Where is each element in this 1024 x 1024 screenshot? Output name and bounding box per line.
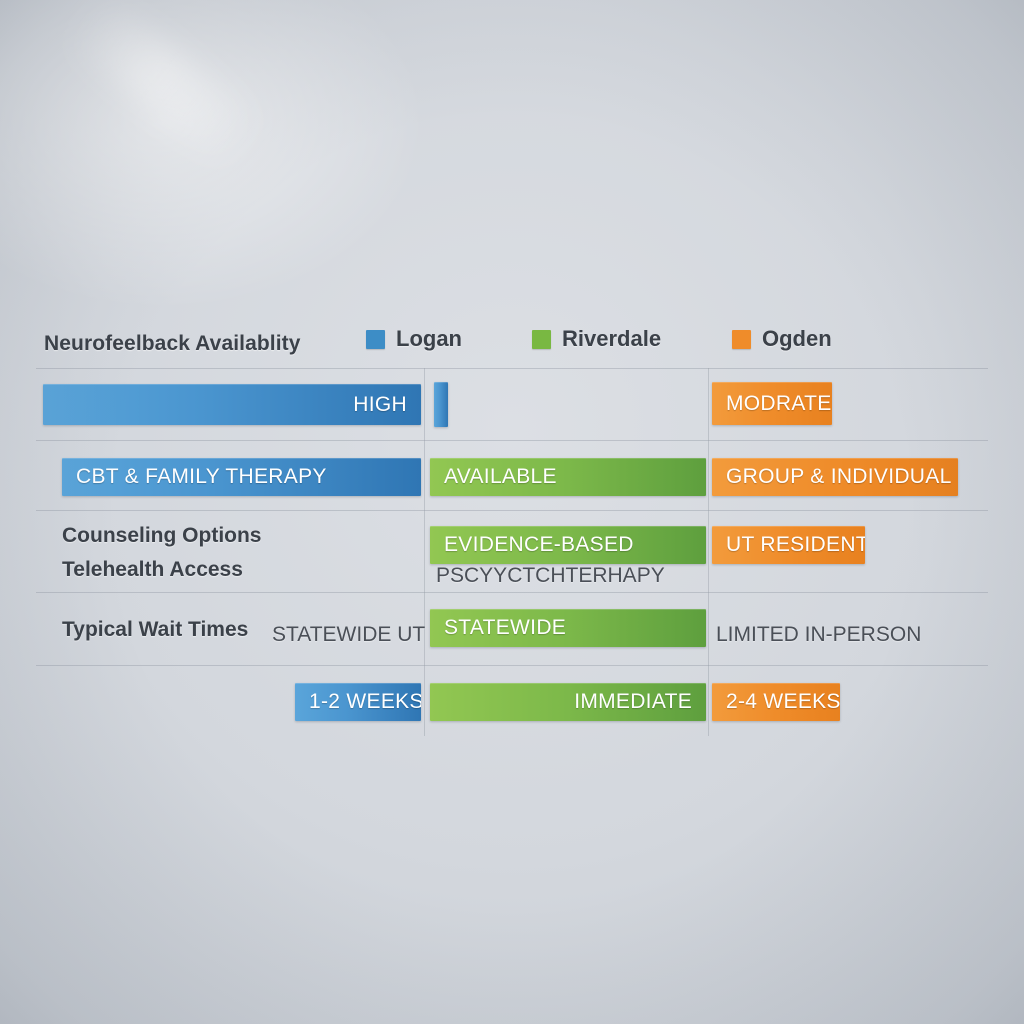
- bar-label-ogden-counseling: GROUP & INDIVIDUAL: [712, 465, 952, 489]
- table-row: HIGH MODRATE: [36, 368, 988, 440]
- bar-label-riverdale-counseling: AVAILABLE: [430, 465, 557, 489]
- row-label-typical-wait-times: Typical Wait Times: [62, 618, 248, 642]
- bar-ogden-wait[interactable]: 2-4 WEEKS: [712, 683, 840, 721]
- cell-ogden-limited-in-person: LIMITED IN-PERSON: [716, 623, 921, 647]
- bar-label-riverdale-statewide: STATEWIDE: [430, 616, 566, 640]
- legend-swatch-icon-ogden: [732, 330, 751, 349]
- table-row: Typical Wait Times STATEWIDE UT STATEWID…: [36, 592, 988, 665]
- bar-riverdale-availability[interactable]: [434, 382, 448, 427]
- chart-title: Neurofeelback Availablity: [44, 332, 301, 356]
- bar-ogden-counseling[interactable]: GROUP & INDIVIDUAL: [712, 458, 958, 496]
- bar-riverdale-telehealth[interactable]: EVIDENCE-BASED: [430, 526, 706, 564]
- legend-item-riverdale[interactable]: Riverdale: [532, 326, 661, 352]
- bar-label-riverdale-wait: IMMEDIATE: [574, 690, 706, 714]
- legend-swatch-icon-riverdale: [532, 330, 551, 349]
- comparison-chart-panel: Neurofeelback Availablity Logan Riverdal…: [36, 306, 988, 736]
- legend-label-riverdale: Riverdale: [562, 326, 661, 352]
- bar-logan-availability[interactable]: HIGH: [43, 384, 421, 425]
- chart-header: Neurofeelback Availablity Logan Riverdal…: [36, 306, 988, 368]
- bar-riverdale-statewide[interactable]: STATEWIDE: [430, 609, 706, 647]
- legend-item-logan[interactable]: Logan: [366, 326, 462, 352]
- bar-label-ogden-wait: 2-4 WEEKS: [712, 690, 840, 714]
- table-row: 1-2 WEEKS IMMEDIATE 2-4 WEEKS: [36, 665, 988, 736]
- legend-swatch-icon-logan: [366, 330, 385, 349]
- bar-logan-counseling[interactable]: CBT & FAMILY THERAPY: [62, 458, 421, 496]
- bar-label-ogden-telehealth: UT RESIDENTS: [712, 533, 865, 557]
- bar-riverdale-wait[interactable]: IMMEDIATE: [430, 683, 706, 721]
- table-row: Counseling Options Telehealth Access EVI…: [36, 510, 988, 592]
- bar-label-logan-wait: 1-2 WEEKS: [295, 690, 421, 714]
- row-label-counseling-options: Counseling Options: [62, 524, 262, 548]
- infographic-canvas: Neurofeelback Availablity Logan Riverdal…: [0, 0, 1024, 1024]
- light-streak: [64, 0, 266, 170]
- legend-label-ogden: Ogden: [762, 326, 832, 352]
- cell-riverdale-therapy-note: PSCYYCTCHTERHAPY: [436, 564, 665, 588]
- bar-ogden-availability[interactable]: MODRATE: [712, 382, 832, 425]
- bar-ogden-telehealth[interactable]: UT RESIDENTS: [712, 526, 865, 564]
- legend-item-ogden[interactable]: Ogden: [732, 326, 832, 352]
- bar-riverdale-counseling[interactable]: AVAILABLE: [430, 458, 706, 496]
- legend-label-logan: Logan: [396, 326, 462, 352]
- bar-logan-wait[interactable]: 1-2 WEEKS: [295, 683, 421, 721]
- table-row: CBT & FAMILY THERAPY AVAILABLE GROUP & I…: [36, 440, 988, 510]
- bar-label-logan-counseling: CBT & FAMILY THERAPY: [62, 465, 327, 489]
- bar-label-riverdale-telehealth: EVIDENCE-BASED: [430, 533, 634, 557]
- bar-label-logan-availability: HIGH: [353, 393, 421, 417]
- cell-logan-statewide: STATEWIDE UT: [272, 623, 425, 647]
- row-label-telehealth-access: Telehealth Access: [62, 558, 243, 582]
- bar-label-ogden-availability: MODRATE: [712, 392, 832, 416]
